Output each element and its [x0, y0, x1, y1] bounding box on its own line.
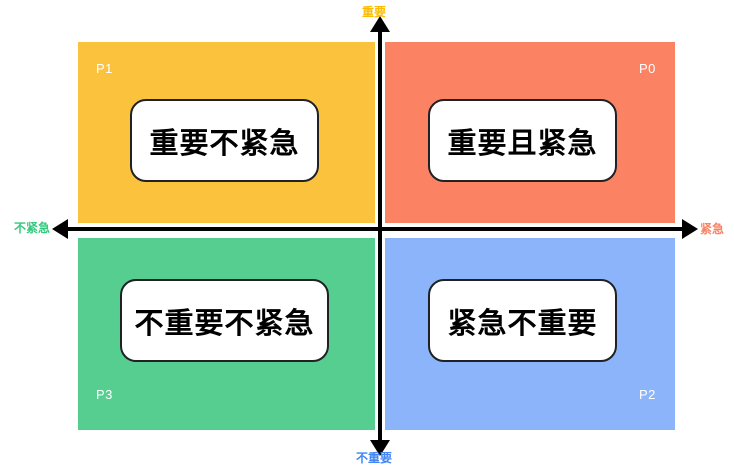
- eisenhower-matrix-diagram: P1 P0 P3 P2 重要 不重要 不紧急 紧急 重要不紧急 重要且紧急 不重…: [0, 0, 734, 470]
- arrow-right-icon: [682, 219, 698, 239]
- quadrant-code-p3: P3: [96, 388, 113, 401]
- axis-label-not-important: 不重要: [356, 452, 392, 464]
- axis-label-important: 重要: [362, 6, 386, 18]
- arrow-left-icon: [52, 219, 68, 239]
- quadrant-code-p2: P2: [639, 388, 656, 401]
- quadrant-code-p1: P1: [96, 62, 113, 75]
- quadrant-card-p3: 不重要不紧急: [120, 279, 329, 362]
- axis-label-urgent: 紧急: [700, 223, 724, 235]
- axis-label-not-urgent: 不紧急: [14, 222, 50, 234]
- horizontal-axis-line: [58, 227, 690, 231]
- quadrant-card-p2: 紧急不重要: [428, 279, 617, 362]
- quadrant-card-p1: 重要不紧急: [130, 99, 319, 182]
- quadrant-code-p0: P0: [639, 62, 656, 75]
- quadrant-card-p0: 重要且紧急: [428, 99, 617, 182]
- vertical-axis-line: [378, 22, 382, 446]
